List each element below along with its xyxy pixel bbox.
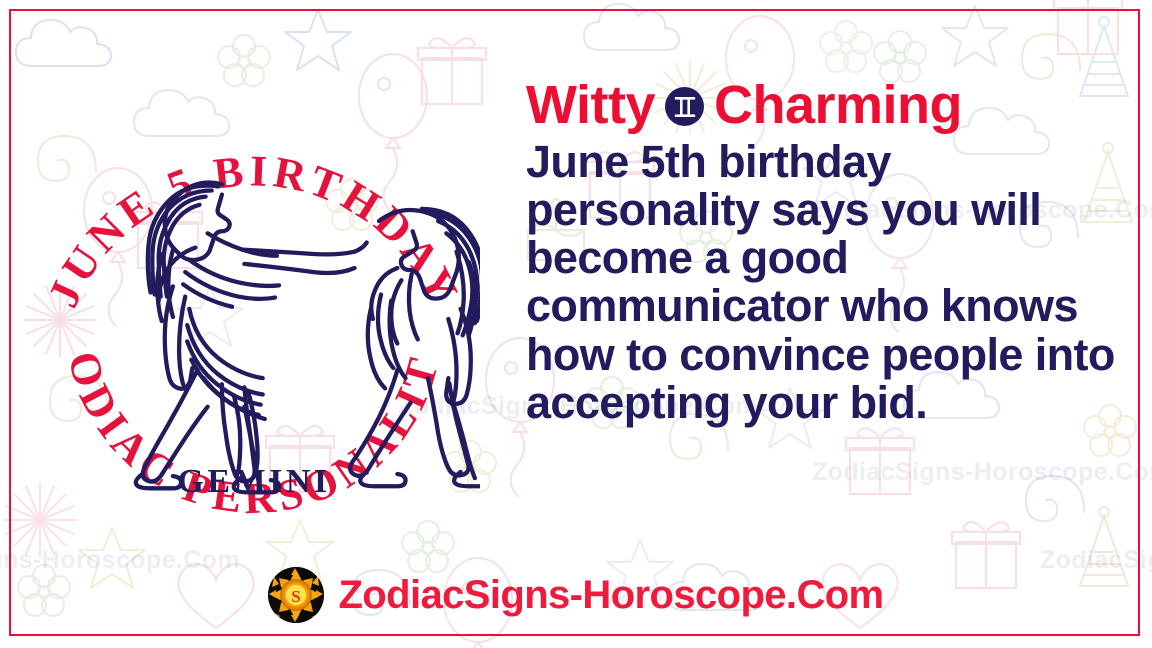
site-name: ZodiacSigns-Horoscope.Com xyxy=(338,575,883,615)
emblem-top-arc-text: JUNE 5 BIRTHDAY xyxy=(38,146,469,314)
birthday-horoscope-card: ZodiacSigns-Horoscope.Com ZodiacSigns-Ho… xyxy=(0,0,1152,648)
copy-column: Witty Charming June 5th birthday persona… xyxy=(512,74,1132,427)
zodiac-emblem: JUNE 5 BIRTHDAY ZODIAC PERSONALITY xyxy=(28,78,480,548)
headline: Witty Charming xyxy=(526,74,1132,136)
site-footer: S ZodiacSigns-Horoscope.Com xyxy=(0,562,1152,628)
zodiacsigns-sunburst-logo-icon: S xyxy=(268,567,324,623)
headline-word-right: Charming xyxy=(714,78,962,132)
headline-word-left: Witty xyxy=(526,78,655,132)
emblem-sign-label: GEMINI xyxy=(177,463,330,500)
body-paragraph: June 5th birthday personality says you w… xyxy=(512,138,1132,427)
svg-text:S: S xyxy=(292,587,301,606)
gemini-zodiac-symbol-icon xyxy=(665,87,704,126)
